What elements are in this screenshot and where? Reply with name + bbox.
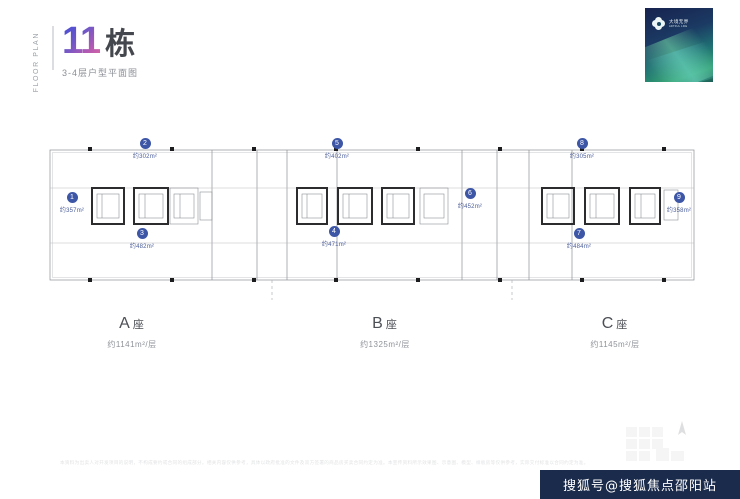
tower-area: 约1325m²/层 <box>315 339 455 350</box>
page-title: 11 栋 3-4层户型平面图 <box>62 22 138 79</box>
unit-marker-number: 4 <box>329 226 340 237</box>
tower-caption-b: B座 约1325m²/层 <box>315 315 455 350</box>
brand-name: 大境无界 <box>669 19 689 25</box>
compass-icon <box>678 421 686 435</box>
tower-letter: B <box>372 315 384 332</box>
unit-marker[interactable]: 7 约484m² <box>549 228 609 250</box>
floor-plan-vertical-label: FLOOR PLAN <box>33 32 40 92</box>
building-number: 11 <box>62 22 100 60</box>
tower-suffix: 座 <box>386 319 398 331</box>
tower-area: 约1145m²/层 <box>545 339 685 350</box>
unit-marker[interactable]: 4 约471m² <box>304 226 364 248</box>
unit-marker-number: 1 <box>67 192 78 203</box>
footer-spacer <box>0 470 540 499</box>
unit-marker-area: 约471m² <box>304 239 364 248</box>
unit-marker-area: 约357m² <box>42 205 102 214</box>
unit-marker[interactable]: 9 约358m² <box>649 192 709 214</box>
tower-suffix: 座 <box>133 319 145 331</box>
unit-marker-area: 约302m² <box>115 151 175 160</box>
tower-letter: A <box>119 315 131 332</box>
unit-marker-number: 2 <box>140 138 151 149</box>
page-subtitle: 3-4层户型平面图 <box>62 66 138 79</box>
unit-marker-area: 约305m² <box>552 151 612 160</box>
building-artwork-icon <box>626 415 698 463</box>
unit-marker[interactable]: 2 约302m² <box>115 138 175 160</box>
brand-subname: ARTFUL LIFE <box>669 25 689 28</box>
unit-marker-number: 5 <box>332 138 343 149</box>
tower-letter: C <box>602 315 615 332</box>
unit-marker[interactable]: 8 约305m² <box>552 138 612 160</box>
unit-marker-area: 约482m² <box>112 241 172 250</box>
building-unit-label: 栋 <box>105 30 135 60</box>
unit-marker-number: 3 <box>137 228 148 239</box>
tower-caption-c: C座 约1145m²/层 <box>545 315 685 350</box>
floor-plan-drawing: 1 约357m² 2 约302m² 3 约482m² 5 约402m² 4 约4… <box>42 140 702 300</box>
unit-marker[interactable]: 1 约357m² <box>42 192 102 214</box>
brand-badge: 大境无界 ARTFUL LIFE <box>645 8 713 82</box>
unit-marker[interactable]: 5 约402m² <box>307 138 367 160</box>
unit-marker-area: 约484m² <box>549 241 609 250</box>
watermark: 搜狐号@搜狐焦点邵阳站 <box>540 470 740 499</box>
title-divider <box>52 26 54 70</box>
unit-marker-number: 7 <box>574 228 585 239</box>
unit-marker-area: 约402m² <box>307 151 367 160</box>
unit-marker[interactable]: 3 约482m² <box>112 228 172 250</box>
tower-suffix: 座 <box>616 319 628 331</box>
flower-logo-icon <box>652 17 665 30</box>
plan-svg <box>42 140 702 300</box>
unit-marker-number: 8 <box>577 138 588 149</box>
legal-disclaimer: 本资料为出卖人对开发项目的说明，不构成要约或合同的组成部分。相关内容仅供参考，具… <box>60 460 680 467</box>
unit-marker-area: 约452m² <box>440 201 500 210</box>
unit-marker-number: 9 <box>674 192 685 203</box>
unit-marker-number: 6 <box>465 188 476 199</box>
tower-caption-a: A座 约1141m²/层 <box>62 315 202 350</box>
unit-marker-area: 约358m² <box>649 205 709 214</box>
unit-marker[interactable]: 6 约452m² <box>440 188 500 210</box>
floor-plan-page: FLOOR PLAN 11 栋 3-4层户型平面图 大境无界 ARTFUL LI… <box>0 0 740 499</box>
tower-area: 约1141m²/层 <box>62 339 202 350</box>
